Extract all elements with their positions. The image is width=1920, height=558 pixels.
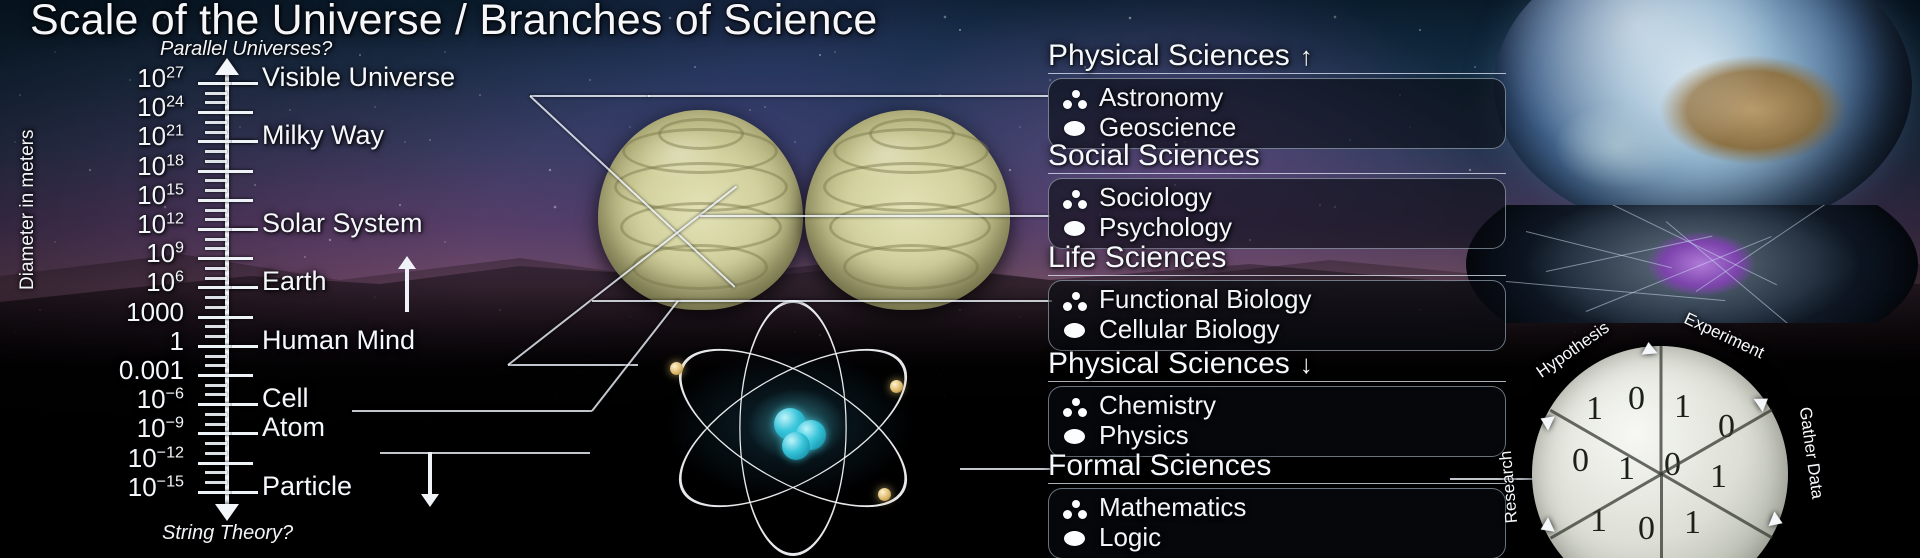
scale-item-leader (232, 228, 258, 231)
branch-item[interactable]: Astronomy (1059, 83, 1495, 113)
branch-item-label: Physics (1099, 420, 1189, 451)
axis-tick-minor (205, 267, 227, 270)
scale-item-leader (232, 491, 258, 494)
connector-astronomy (648, 95, 1048, 97)
branch-heading: Physical Sciences↓ (1048, 348, 1506, 382)
oval-bullet-icon (1059, 115, 1099, 141)
connector-physics (960, 468, 1050, 470)
axis-exponent-label: 10−15 (128, 472, 184, 503)
branch-category-social-sciences-1[interactable]: Social SciencesSociologyPsychology (1048, 140, 1506, 249)
axis-tick-major (198, 462, 253, 465)
axis-tick-minor (205, 101, 227, 104)
scale-item-leader (232, 286, 258, 289)
axis-tick-minor (205, 384, 227, 387)
branch-item-box: MathematicsLogic (1048, 488, 1506, 558)
axis-tick-minor (205, 355, 227, 358)
axis-tick-minor (205, 335, 227, 338)
branch-item[interactable]: Logic (1059, 523, 1495, 553)
axis-tick-major (198, 170, 253, 173)
wheel-disc: 1 0 1 0 0 1 0 1 1 0 1 (1532, 346, 1788, 558)
axis-exponent-label: 10−6 (137, 384, 184, 415)
oval-bullet-icon (1059, 317, 1099, 343)
cell-photo (1466, 205, 1918, 323)
parallel-universes-caption: Parallel Universes? (160, 38, 332, 61)
three-dot-bullet-icon (1059, 185, 1099, 211)
connector-human-mind (508, 364, 638, 366)
arrow-down-icon: ↓ (1300, 349, 1313, 379)
axis-tick-minor (205, 150, 227, 153)
axis-tick-major (198, 111, 253, 114)
physical-down-arrowhead (421, 494, 439, 507)
scale-item-leader (232, 432, 258, 435)
axis-tick-minor (205, 481, 227, 484)
axis-exponent-label: 1027 (137, 63, 184, 94)
branch-item-label: Cellular Biology (1099, 314, 1280, 345)
axis-exponent-label: 10−9 (137, 413, 184, 444)
branch-category-life-sciences-2[interactable]: Life SciencesFunctional BiologyCellular … (1048, 242, 1506, 351)
physical-down-indicator (428, 452, 432, 496)
three-dot-bullet-icon (1059, 393, 1099, 419)
axis-exponent-label: 1 (170, 326, 184, 357)
branch-category-formal-sciences-4[interactable]: Formal SciencesMathematicsLogic (1048, 450, 1506, 558)
axis-tick-minor (205, 160, 227, 163)
branch-item-box: ChemistryPhysics (1048, 386, 1506, 457)
cell-body (1466, 205, 1918, 323)
axis-tick-minor (205, 189, 227, 192)
string-theory-caption: String Theory? (162, 522, 293, 545)
physical-up-indicator (405, 268, 409, 312)
page-title: Scale of the Universe / Branches of Scie… (30, 0, 878, 45)
axis-tick-minor (205, 364, 227, 367)
axis-tick-major (198, 199, 253, 202)
branch-item[interactable]: Chemistry (1059, 391, 1495, 421)
axis-tick-minor (205, 238, 227, 241)
three-dot-bullet-icon (1059, 287, 1099, 313)
scale-item-leader (232, 140, 258, 143)
branch-item-box: AstronomyGeoscience (1048, 78, 1506, 149)
branch-heading: Social Sciences (1048, 140, 1506, 174)
axis-tick-minor (205, 179, 227, 182)
branch-item[interactable]: Geoscience (1059, 113, 1495, 143)
branch-heading: Life Sciences (1048, 242, 1506, 276)
branch-heading: Formal Sciences (1048, 450, 1506, 484)
oval-bullet-icon (1059, 525, 1099, 551)
brain-illustration (598, 110, 1018, 310)
axis-exponent-label: 10−12 (128, 443, 184, 474)
branch-item-label: Logic (1099, 522, 1161, 553)
axis-tick-minor (205, 393, 227, 396)
axis-exponent-label: 1018 (137, 151, 184, 182)
branch-item[interactable]: Cellular Biology (1059, 315, 1495, 345)
scale-item-earth: Earth (262, 266, 327, 297)
scale-item-visible-universe: Visible Universe (262, 62, 455, 93)
three-dot-bullet-icon (1059, 495, 1099, 521)
branch-item[interactable]: Sociology (1059, 183, 1495, 213)
brain-left-hemisphere (598, 110, 803, 310)
oval-bullet-icon (1059, 215, 1099, 241)
scale-item-atom: Atom (262, 412, 325, 443)
branch-item-label: Mathematics (1099, 492, 1246, 523)
arrow-up-icon: ↑ (1300, 41, 1313, 71)
axis-tick-minor (205, 442, 227, 445)
branch-item[interactable]: Psychology (1059, 213, 1495, 243)
axis-exponent-label: 0.001 (119, 355, 184, 386)
axis-tick-minor (205, 209, 227, 212)
branch-item[interactable]: Mathematics (1059, 493, 1495, 523)
axis-tick-major (198, 257, 253, 260)
scale-item-human-mind: Human Mind (262, 325, 415, 356)
axis-tick-minor (205, 325, 227, 328)
infographic-poster: Scale of the Universe / Branches of Scie… (0, 0, 1920, 558)
oval-bullet-icon (1059, 423, 1099, 449)
branch-item-box: SociologyPsychology (1048, 178, 1506, 249)
axis-up-arrow (215, 58, 239, 75)
axis-exponent-label: 1021 (137, 121, 184, 152)
axis-tick-minor (205, 218, 227, 221)
scale-item-leader (232, 403, 258, 406)
connector-atom (380, 452, 590, 454)
axis-tick-minor (205, 423, 227, 426)
axis-tick-minor (205, 247, 227, 250)
branch-item-label: Astronomy (1099, 82, 1223, 113)
scale-item-milky-way: Milky Way (262, 120, 384, 151)
physical-up-arrowhead (398, 256, 416, 269)
axis-exponent-label: 1015 (137, 180, 184, 211)
branch-item-box: Functional BiologyCellular Biology (1048, 280, 1506, 351)
atom-illustration (590, 310, 990, 540)
scale-item-leader (232, 345, 258, 348)
atom-electron (670, 362, 683, 375)
axis-exponent-label: 106 (146, 267, 184, 298)
axis-exponent-label: 1024 (137, 92, 184, 123)
axis-tick-minor (205, 306, 227, 309)
axis-tick-minor (205, 296, 227, 299)
axis-tick-minor (205, 131, 227, 134)
branch-item-label: Psychology (1099, 212, 1232, 243)
axis-tick-minor (205, 121, 227, 124)
atom-electron (890, 380, 903, 393)
axis-tick-minor (205, 92, 227, 95)
branch-item[interactable]: Functional Biology (1059, 285, 1495, 315)
branch-item-label: Sociology (1099, 182, 1212, 213)
branch-item[interactable]: Physics (1059, 421, 1495, 451)
branch-category-physical-sciences-3[interactable]: Physical Sciences↓ChemistryPhysics (1048, 348, 1506, 457)
axis-tick-minor (205, 277, 227, 280)
branch-heading: Physical Sciences↑ (1048, 40, 1506, 74)
axis-exponent-label: 109 (146, 238, 184, 269)
connector-cellular-biology (592, 300, 1052, 302)
branch-item-label: Chemistry (1099, 390, 1216, 421)
earth-photo (1494, 32, 1912, 152)
axis-tick-minor (205, 452, 227, 455)
axis-tick-major (198, 316, 253, 319)
scale-item-solar-system: Solar System (262, 208, 423, 239)
axis-tick-major (198, 374, 253, 377)
three-dot-bullet-icon (1059, 85, 1099, 111)
axis-down-arrow (215, 504, 239, 521)
axis-title: Diameter in meters (17, 130, 39, 291)
connector-psychology (700, 215, 1050, 217)
brain-right-hemisphere (805, 110, 1010, 310)
axis-tick-minor (205, 471, 227, 474)
scale-item-leader (232, 82, 258, 85)
wheel-step-arrow-icon (1641, 342, 1658, 355)
scientific-method-wheel: 1 0 1 0 0 1 0 1 1 0 1 HypothesisExperime… (1510, 370, 1810, 558)
atom-electron (878, 488, 891, 501)
connector-visible-universe (530, 95, 650, 97)
scale-item-cell: Cell (262, 383, 309, 414)
connector-cell (352, 410, 592, 412)
branch-category-physical-sciences-0[interactable]: Physical Sciences↑AstronomyGeoscience (1048, 40, 1506, 149)
axis-exponent-label: 1012 (137, 209, 184, 240)
atom-nucleon (782, 432, 810, 460)
axis-tick-minor (205, 413, 227, 416)
axis-exponent-label: 1000 (126, 297, 184, 328)
branch-item-label: Functional Biology (1099, 284, 1311, 315)
scale-item-particle: Particle (262, 471, 352, 502)
